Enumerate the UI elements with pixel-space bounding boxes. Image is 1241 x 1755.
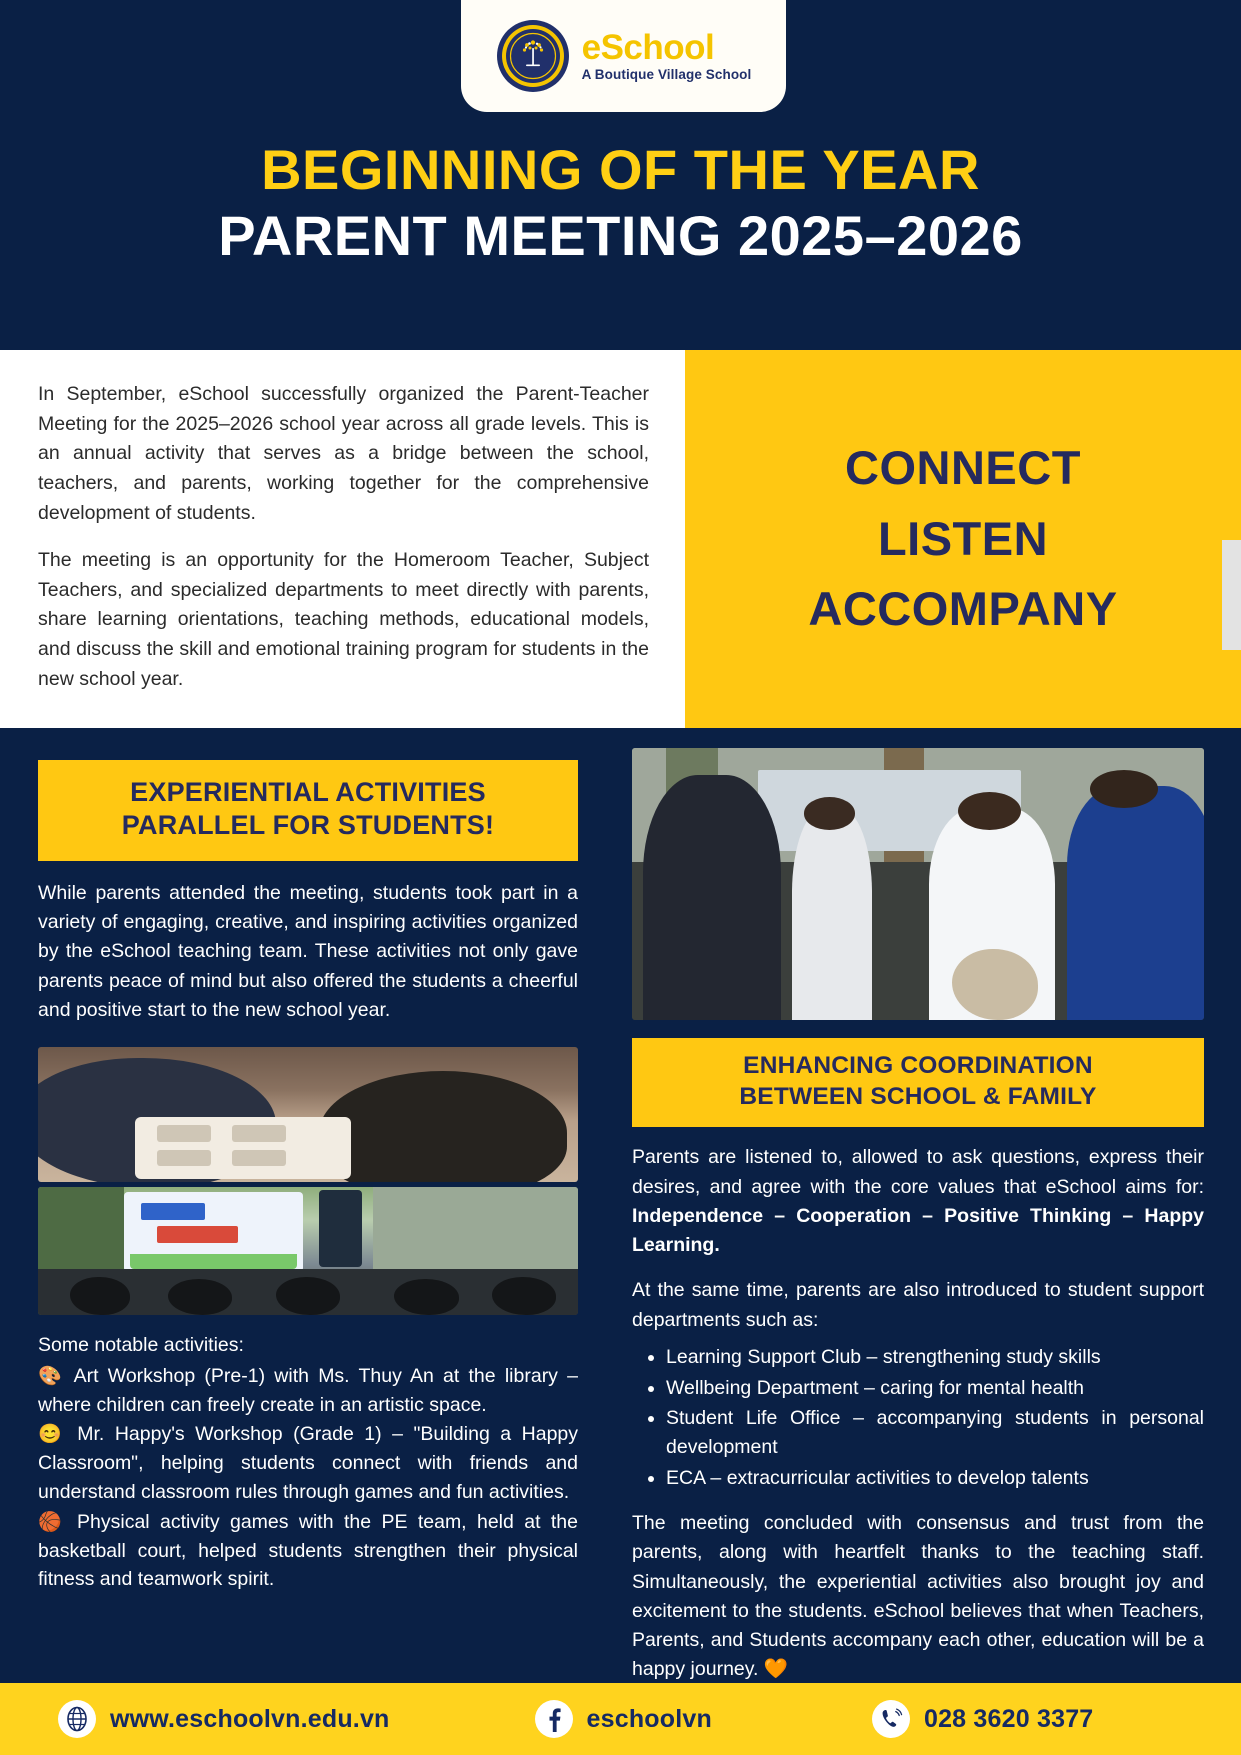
coordination-heading-line-1: ENHANCING COORDINATION [646,1051,1190,1082]
photo-art-workshop [38,1047,578,1182]
footer-website[interactable]: www.eschoolvn.edu.vn [58,1700,390,1738]
smiling-face-icon: 😊 [38,1424,67,1445]
phone-icon [872,1700,910,1738]
photo-parent-meeting [632,748,1204,1020]
notable-item-2-text: Physical activity games with the PE team… [38,1511,578,1591]
slogan-panel: CONNECT LISTEN ACCOMPANY [685,350,1241,728]
logo-name: eSchool [582,30,752,65]
right-column: ENHANCING COORDINATION BETWEEN SCHOOL & … [632,748,1204,1685]
experiential-heading-line-2: PARALLEL FOR STUDENTS! [56,809,560,842]
footer-facebook[interactable]: eschoolvn [535,1700,712,1738]
footer-phone-text: 028 3620 3377 [924,1705,1093,1734]
coordination-paragraph-3: The meeting concluded with consensus and… [632,1509,1204,1685]
experiential-heading-line-1: EXPERIENTIAL ACTIVITIES [56,776,560,809]
art-palette-icon: 🎨 [38,1366,65,1387]
notable-item-0-text: Art Workshop (Pre-1) with Ms. Thuy An at… [38,1365,578,1416]
notable-item-1-text: Mr. Happy's Workshop (Grade 1) – "Buildi… [38,1423,578,1503]
list-item: Learning Support Club – strengthening st… [666,1343,1204,1372]
edge-shadow [1222,540,1241,650]
left-column: EXPERIENTIAL ACTIVITIES PARALLEL FOR STU… [38,760,578,1595]
logo-tagline: A Boutique Village School [582,68,752,82]
facebook-icon [535,1700,573,1738]
school-seal-icon [496,19,570,93]
notable-lead: Some notable activities: [38,1331,578,1360]
main-body: EXPERIENTIAL ACTIVITIES PARALLEL FOR STU… [0,728,1241,1668]
slogan-line-1: CONNECT [845,433,1081,504]
experiential-heading: EXPERIENTIAL ACTIVITIES PARALLEL FOR STU… [38,760,578,861]
intro-band: In September, eSchool successfully organ… [0,350,1241,728]
intro-paragraph-1: In September, eSchool successfully organ… [38,380,649,528]
notable-item-0: 🎨 Art Workshop (Pre-1) with Ms. Thuy An … [38,1362,578,1420]
page-title: BEGINNING OF THE YEAR PARENT MEETING 202… [0,140,1241,267]
notable-activities: Some notable activities: 🎨 Art Workshop … [38,1331,578,1594]
footer-website-text: www.eschoolvn.edu.vn [110,1705,390,1734]
list-item: ECA – extracurricular activities to deve… [666,1464,1204,1493]
poster-page: eSchool A Boutique Village School BEGINN… [0,0,1241,1755]
coordination-paragraph-1: Parents are listened to, allowed to ask … [632,1143,1204,1260]
basketball-icon: 🏀 [38,1512,67,1533]
globe-icon [58,1700,96,1738]
coordination-paragraph-2: At the same time, parents are also intro… [632,1276,1204,1335]
notable-item-1: 😊 Mr. Happy's Workshop (Grade 1) – "Buil… [38,1420,578,1506]
title-line-1: BEGINNING OF THE YEAR [0,140,1241,200]
support-departments-list: Learning Support Club – strengthening st… [632,1343,1204,1493]
experiential-paragraph: While parents attended the meeting, stud… [38,879,578,1025]
core-values-text: Independence – Cooperation – Positive Th… [632,1205,1204,1256]
coordination-heading-line-2: BETWEEN SCHOOL & FAMILY [646,1082,1190,1113]
logo-card: eSchool A Boutique Village School [461,0,786,112]
notable-item-2: 🏀 Physical activity games with the PE te… [38,1508,578,1594]
list-item: Wellbeing Department – caring for mental… [666,1374,1204,1403]
poster-header: eSchool A Boutique Village School BEGINN… [0,0,1241,350]
intro-text-block: In September, eSchool successfully organ… [0,350,685,728]
coordination-paragraph-1-prefix: Parents are listened to, allowed to ask … [632,1146,1204,1197]
poster-footer: www.eschoolvn.edu.vn eschoolvn 028 3620 … [0,1683,1241,1755]
slogan-line-3: ACCOMPANY [808,574,1117,645]
intro-paragraph-2: The meeting is an opportunity for the Ho… [38,546,649,694]
list-item: Student Life Office – accompanying stude… [666,1404,1204,1462]
footer-phone[interactable]: 028 3620 3377 [872,1700,1093,1738]
photo-happy-class [38,1187,578,1315]
slogan-line-2: LISTEN [878,504,1048,575]
coordination-heading: ENHANCING COORDINATION BETWEEN SCHOOL & … [632,1038,1204,1127]
title-line-2: PARENT MEETING 2025–2026 [0,206,1241,266]
footer-facebook-text: eschoolvn [587,1705,712,1734]
logo-text: eSchool A Boutique Village School [582,30,752,82]
